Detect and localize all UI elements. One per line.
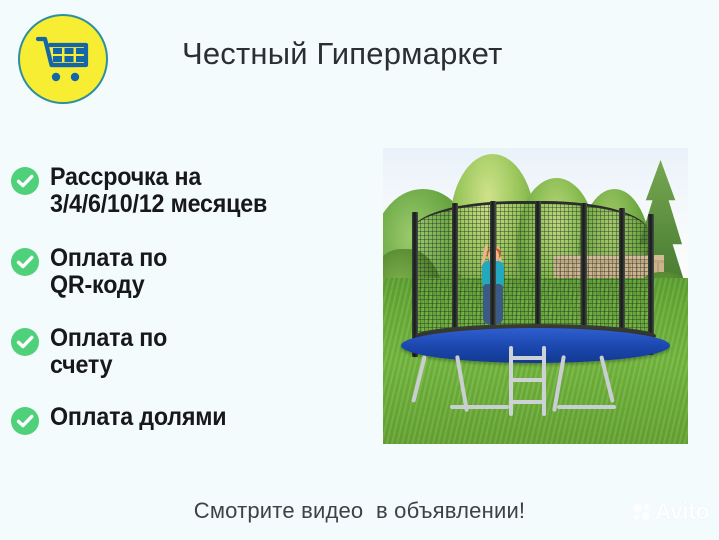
footer-caption: Смотрите видео в объявлении!	[0, 498, 719, 524]
brand-logo	[18, 14, 108, 104]
avito-wordmark: Avito	[655, 498, 709, 525]
check-circle-icon	[10, 327, 40, 357]
trampoline-leg	[552, 355, 566, 412]
avito-dots-icon	[632, 502, 652, 522]
trampoline-leg	[455, 355, 469, 412]
list-item-label: Оплата по QR-коду	[50, 245, 167, 299]
trampoline-safety-net	[412, 201, 648, 340]
list-item-label: Оплата по счету	[50, 325, 167, 379]
trampoline-leg	[412, 355, 428, 403]
trampoline-leg	[450, 405, 509, 409]
check-circle-icon	[10, 406, 40, 436]
header: Честный Гипермаркет	[0, 0, 719, 120]
trampoline	[401, 201, 669, 420]
list-item-label: Оплата долями	[50, 404, 226, 431]
page-title: Честный Гипермаркет	[182, 36, 502, 72]
trampoline-leg	[599, 355, 615, 403]
check-circle-icon	[10, 166, 40, 196]
check-circle-icon	[10, 247, 40, 277]
trampoline-leg	[557, 405, 616, 409]
ad-banner: Честный Гипермаркет Рассрочка на 3/4/6/1…	[0, 0, 719, 540]
list-item-label: Рассрочка на 3/4/6/10/12 месяцев	[50, 164, 267, 218]
avito-watermark: Avito	[632, 498, 709, 525]
list-item: Оплата по счету	[10, 325, 176, 379]
list-item: Оплата по QR-коду	[10, 245, 176, 299]
list-item: Рассрочка на 3/4/6/10/12 месяцев	[10, 164, 283, 218]
shopping-cart-icon	[35, 34, 91, 84]
product-photo	[383, 148, 688, 444]
trampoline-ladder	[509, 346, 547, 416]
list-item: Оплата долями	[10, 404, 240, 436]
